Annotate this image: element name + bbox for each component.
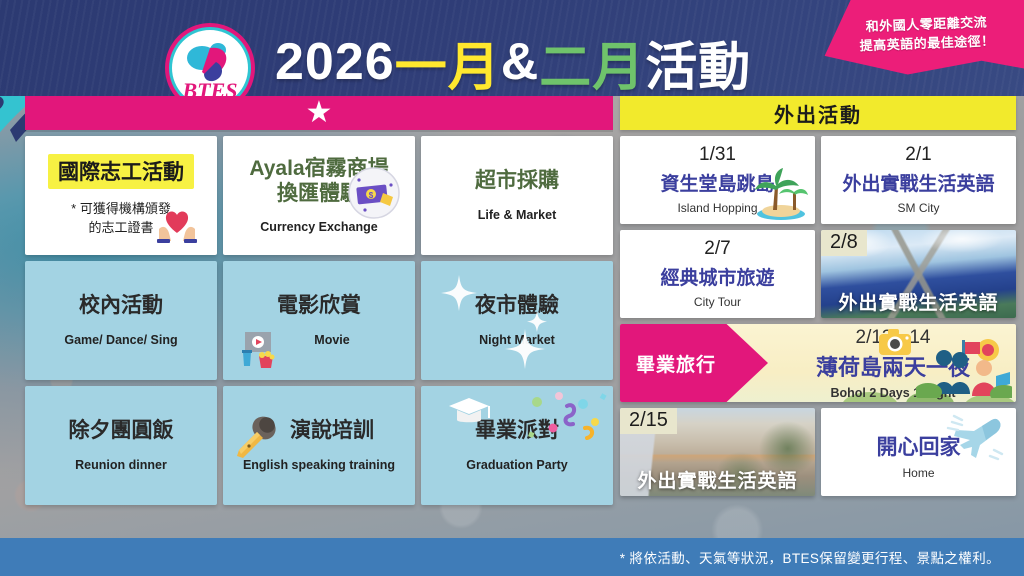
bohol-en: Bohol 2 Days 1 Night xyxy=(830,386,955,400)
card-supermarket[interactable]: 超市採購 Life & Market xyxy=(421,136,613,255)
card-currency-exchange[interactable]: Ayala宿霧商場 換匯體驗 Currency Exchange $ xyxy=(223,136,415,255)
outing-card-photo-0208[interactable]: 2/8 外出實戰生活英語 xyxy=(821,230,1016,318)
outing-card-photo-0215[interactable]: 2/15 外出實戰生活英語 xyxy=(620,408,815,496)
outing-date-badge: 2/8 xyxy=(821,230,867,256)
title-activity: 活動 xyxy=(645,25,751,100)
bohol-tag-label: 畢業旅行 xyxy=(636,350,716,377)
card-graduation-party[interactable]: 畢業派對 Graduation Party xyxy=(421,386,613,505)
outing-zh: 外出實戰生活英語 xyxy=(821,288,1016,315)
card-movie-en: Movie xyxy=(314,333,349,347)
bohol-trip-banner[interactable]: 畢業旅行 2/13 - 14 薄荷島兩天一夜 Bohol 2 Days 1 Ni… xyxy=(620,324,1016,402)
card-movie[interactable]: 電影欣賞 Movie xyxy=(223,261,415,380)
card-volunteer[interactable]: 國際志工活動 * 可獲得機構頒發 的志工證書 xyxy=(25,136,217,255)
footer-disclaimer: * 將依活動、天氣等狀況，BTES保留變更行程、景點之權利。 xyxy=(620,547,1000,567)
card-volunteer-note: * 可獲得機構頒發 的志工證書 xyxy=(71,199,171,238)
outing-date: 1/31 xyxy=(699,145,736,166)
sparkle-icon xyxy=(433,267,553,377)
badge-line-2: 提高英語的最佳途徑！ xyxy=(859,32,995,56)
card-currency-en: Currency Exchange xyxy=(260,220,377,234)
outing-date-badge: 2/15 xyxy=(620,408,677,434)
card-campus-en: Game/ Dance/ Sing xyxy=(64,333,177,347)
bohol-zh: 薄荷島兩天一夜 xyxy=(816,350,970,382)
card-speaking-training[interactable]: 演說培訓 English speaking training xyxy=(223,386,415,505)
outing-date: 2/7 xyxy=(704,239,730,260)
right-row-3: 2/15 外出實戰生活英語 開心回家 Home xyxy=(620,408,1016,496)
outing-zh: 開心回家 xyxy=(877,431,961,461)
card-reunion-dinner[interactable]: 除夕團圓飯 Reunion dinner xyxy=(25,386,217,505)
card-currency-title: Ayala宿霧商場 換匯體驗 xyxy=(249,157,388,205)
left-section: ★ 國際志工活動 * 可獲得機構頒發 的志工證書 xyxy=(25,96,613,505)
card-supermarket-en: Life & Market xyxy=(478,208,557,222)
card-grad-title: 畢業派對 xyxy=(475,419,559,443)
poster-root: 和外國人零距離交流 提高英語的最佳途徑！ BTES 2026 一月 & 二月 活… xyxy=(0,0,1024,576)
outing-date: 2/1 xyxy=(905,145,931,166)
bohol-date: 2/13 - 14 xyxy=(856,327,931,349)
right-row-2: 2/7 經典城市旅遊 City Tour 2/8 外出實戰生活英語 xyxy=(620,230,1016,318)
outing-card-home[interactable]: 開心回家 Home xyxy=(821,408,1016,496)
microphone-icon xyxy=(231,412,283,464)
card-reunion-en: Reunion dinner xyxy=(75,458,167,472)
page-title: 2026 一月 & 二月 活動 xyxy=(275,28,751,96)
card-campus-title: 校內活動 xyxy=(79,294,163,318)
outing-en: SM City xyxy=(898,201,940,215)
outing-zh: 經典城市旅遊 xyxy=(660,263,774,290)
card-reunion-title: 除夕團圓飯 xyxy=(69,419,174,443)
right-section-bar: 外出活動 xyxy=(620,96,1016,130)
note-line-1: * 可獲得機構頒發 xyxy=(71,199,171,219)
outing-zh: 外出實戰生活英語 xyxy=(620,466,815,493)
left-section-bar: ★ xyxy=(25,96,613,130)
outing-card-sm-city[interactable]: 2/1 外出實戰生活英語 SM City xyxy=(821,136,1016,224)
card-night-market-en: Night Market xyxy=(479,333,555,347)
card-night-market[interactable]: 夜市體驗 Night Market xyxy=(421,261,613,380)
outing-zh: 資生堂島跳島 xyxy=(660,169,774,196)
right-section-title: 外出活動 xyxy=(774,99,862,128)
bohol-body: 2/13 - 14 薄荷島兩天一夜 Bohol 2 Days 1 Night xyxy=(770,324,1016,402)
footer-bar: * 將依活動、天氣等狀況，BTES保留變更行程、景點之權利。 xyxy=(0,538,1024,576)
card-movie-title: 電影欣賞 xyxy=(277,294,361,318)
card-campus-activity[interactable]: 校內活動 Game/ Dance/ Sing xyxy=(25,261,217,380)
bohol-tag: 畢業旅行 xyxy=(620,324,768,402)
outing-card-city-tour[interactable]: 2/7 經典城市旅遊 City Tour xyxy=(620,230,815,318)
title-month-feb: 二月 xyxy=(539,25,645,100)
left-card-grid: 國際志工活動 * 可獲得機構頒發 的志工證書 Ayala宿霧商場 換匯體驗 xyxy=(25,136,613,505)
card-night-market-title: 夜市體驗 xyxy=(475,294,559,318)
note-line-2: 的志工證書 xyxy=(71,218,171,238)
popcorn-icon xyxy=(239,328,281,370)
outing-zh: 外出實戰生活英語 xyxy=(842,169,994,196)
outing-en: Home xyxy=(902,466,934,480)
card-speaking-en: English speaking training xyxy=(243,458,395,472)
right-section: 外出活動 1/31 資生堂島跳島 Island Hopping xyxy=(620,96,1016,496)
outing-en: Island Hopping xyxy=(677,201,757,215)
right-row-1: 1/31 資生堂島跳島 Island Hopping xyxy=(620,136,1016,224)
card-currency-line1: Ayala宿霧商場 xyxy=(249,157,388,181)
card-currency-line2: 換匯體驗 xyxy=(249,182,388,206)
card-supermarket-title: 超市採購 xyxy=(475,169,559,193)
title-month-jan: 一月 xyxy=(395,25,501,100)
star-icon: ★ xyxy=(306,98,333,128)
card-grad-en: Graduation Party xyxy=(466,458,567,472)
card-speaking-title: 演說培訓 xyxy=(290,419,374,443)
outing-en: City Tour xyxy=(694,295,741,309)
card-volunteer-title: 國際志工活動 xyxy=(48,154,194,189)
outing-card-island-hopping[interactable]: 1/31 資生堂島跳島 Island Hopping xyxy=(620,136,815,224)
title-year: 2026 xyxy=(275,32,395,92)
title-amp: & xyxy=(501,32,540,92)
